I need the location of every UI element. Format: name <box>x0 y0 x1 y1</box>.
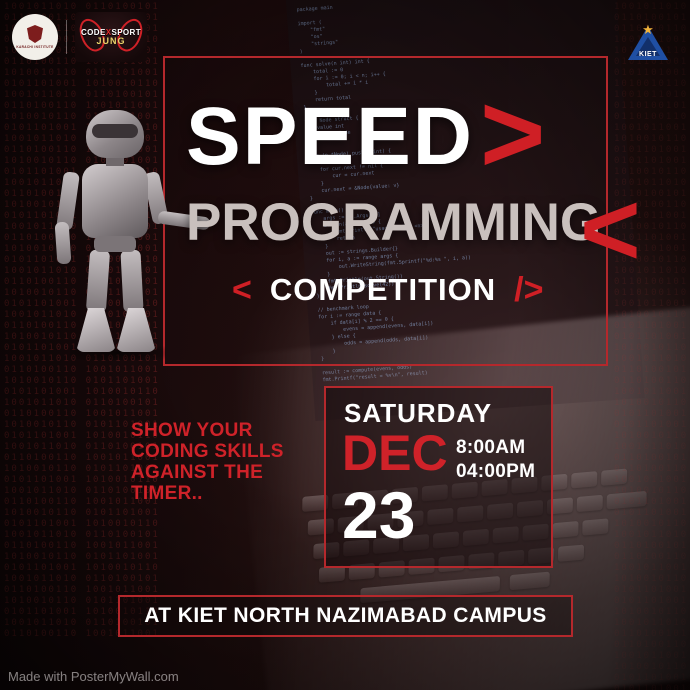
star-icon: ★ <box>642 23 654 36</box>
robot-leg-right <box>120 250 143 313</box>
headline-programming: PROGRAMMING <box>186 196 601 249</box>
date-times: 8:00AM 04:00PM <box>456 436 535 484</box>
date-month: DEC <box>342 428 448 478</box>
competition-label: COMPETITION <box>270 272 496 308</box>
time-end: 04:00PM <box>456 460 535 484</box>
venue-text: AT KIET NORTH NAZIMABAD CAMPUS <box>144 604 546 628</box>
crest-label: KARACHI INSTITUTE <box>16 45 53 49</box>
robot-arm-left-lower <box>55 222 72 265</box>
kiet-logo: ★ KIET <box>620 14 676 70</box>
robot-torso <box>82 164 148 238</box>
crest-shield-icon <box>27 25 43 43</box>
chevron-right-icon: > <box>480 78 545 190</box>
date-day: 23 <box>342 482 415 548</box>
competition-row: < COMPETITION /> <box>232 272 543 308</box>
robot-illustration <box>30 110 200 380</box>
venue-banner: AT KIET NORTH NAZIMABAD CAMPUS <box>118 595 573 637</box>
date-box: SATURDAY DEC 23 8:00AM 04:00PM <box>324 386 553 568</box>
badge-line-2: JUNG <box>81 37 141 45</box>
watermark-text: Made with PosterMyWall.com <box>8 669 179 684</box>
logo-row: KARACHI INSTITUTE CODEXSPORT JUNG <box>12 12 147 62</box>
time-start: 8:00AM <box>456 436 535 460</box>
bracket-close-icon: /> <box>514 273 543 307</box>
kiet-label: KIET <box>639 51 657 58</box>
headline-speed: SPEED <box>186 96 474 178</box>
bracket-open-icon: < <box>232 273 252 307</box>
chevron-left-icon: < <box>580 178 641 282</box>
university-crest-logo: KARACHI INSTITUTE <box>12 14 58 60</box>
code-x-sport-jung-logo: CODEXSPORT JUNG <box>75 12 147 62</box>
robot-visor <box>92 124 138 138</box>
robot-foot-left <box>76 308 116 352</box>
binary-matrix-right: 1001011010 0110100101 0110100110 1001011… <box>610 0 690 690</box>
logo-divider <box>66 20 67 54</box>
tagline-text: SHOW YOUR CODING SKILLS AGAINST THE TIME… <box>131 420 291 504</box>
robot-leg-left <box>86 249 110 312</box>
robot-foot-right <box>116 308 156 352</box>
poster-canvas: package main import ( "fmt" "os" "string… <box>0 0 690 690</box>
robot-hip <box>94 236 136 252</box>
